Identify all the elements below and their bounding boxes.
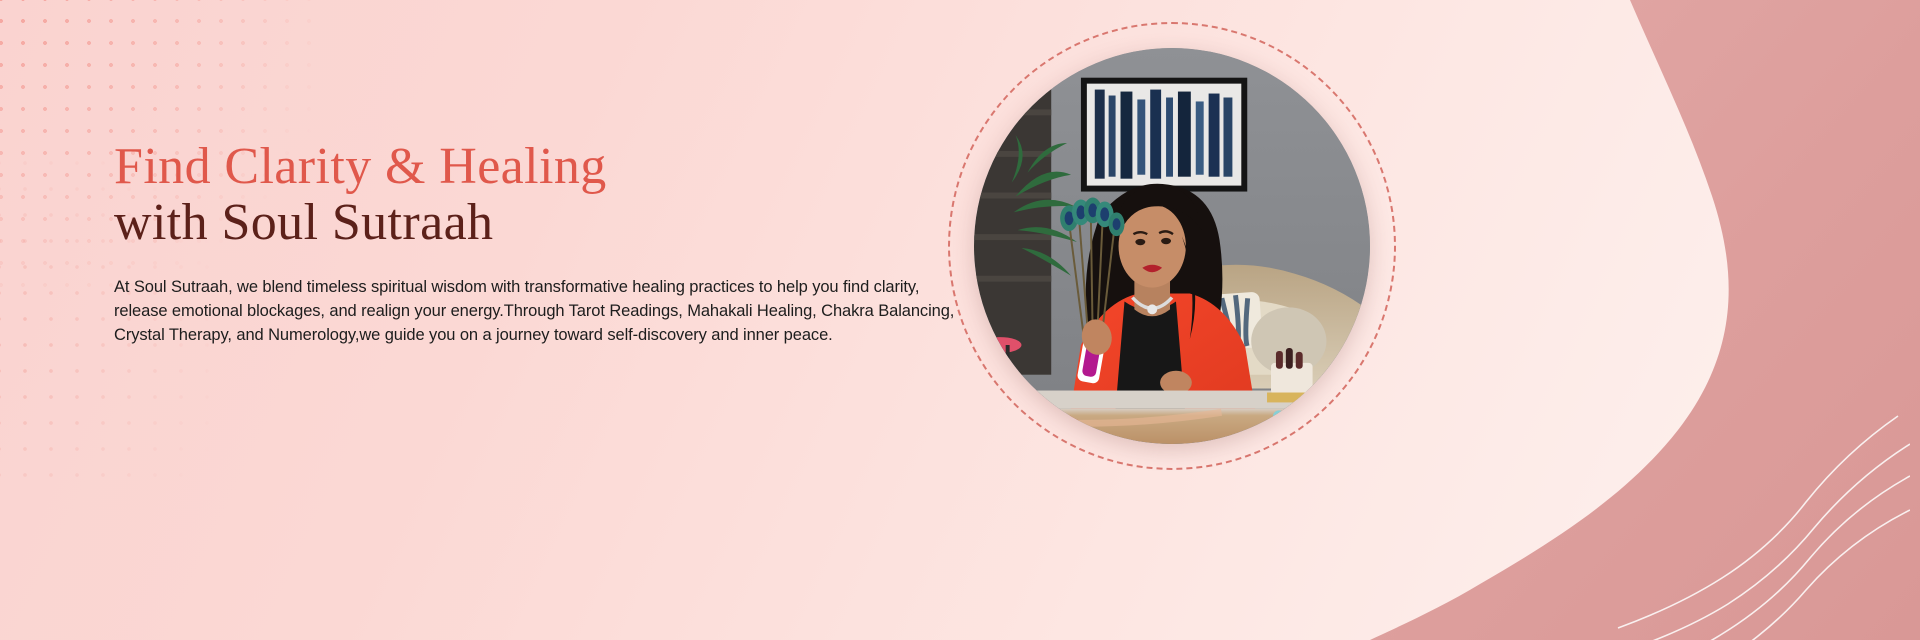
page-title: Find Clarity & Healing with Soul Sutraah — [114, 140, 944, 250]
wavy-lines-decoration-icon — [1580, 410, 1910, 640]
rose-blob-shape-icon — [1360, 0, 1920, 640]
description-line-3: Crystal Therapy, and Numerology,we guide… — [114, 323, 929, 347]
headline-line-1: Find Clarity & Healing — [114, 140, 944, 194]
hero-copy: Find Clarity & Healing with Soul Sutraah… — [114, 140, 944, 347]
headline-line-2: with Soul Sutraah — [114, 196, 944, 250]
hero-description: At Soul Sutraah, we blend timeless spiri… — [114, 275, 929, 347]
description-line-1: At Soul Sutraah, we blend timeless spiri… — [114, 275, 929, 299]
description-line-2: release emotional blockages, and realign… — [114, 299, 929, 323]
practitioner-portrait-image — [974, 48, 1370, 444]
portrait-frame — [948, 22, 1396, 470]
hero-banner: Find Clarity & Healing with Soul Sutraah… — [0, 0, 1920, 640]
